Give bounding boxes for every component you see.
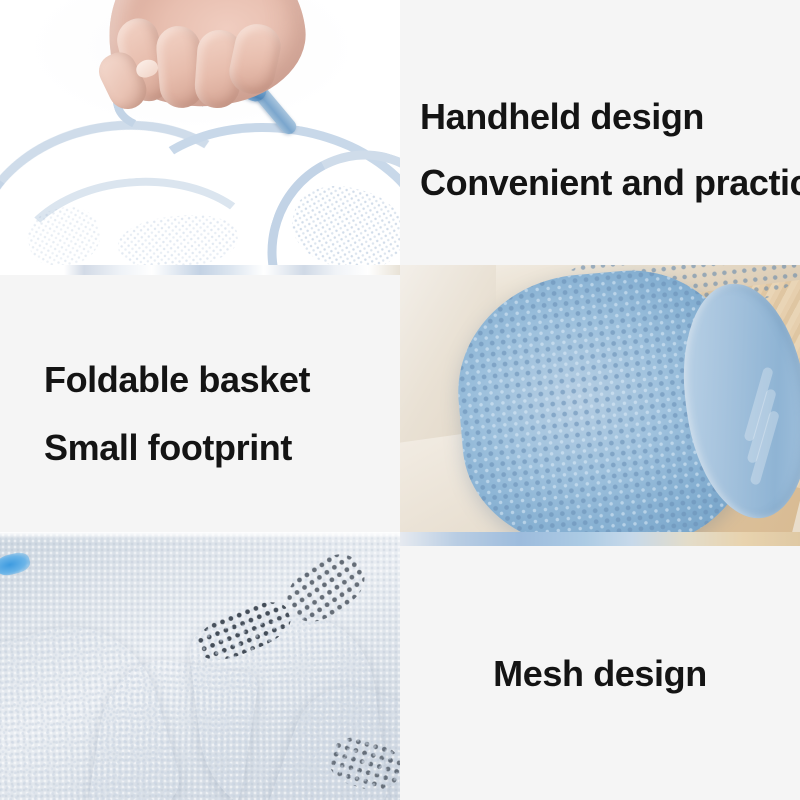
- panel-drawer-photo: [400, 265, 800, 532]
- panel-handheld-text: Handheld design Convenient and practical: [400, 0, 800, 265]
- handheld-headline-line1: Handheld design: [420, 98, 800, 136]
- handheld-headline-line2: Convenient and practical: [420, 164, 800, 202]
- photo-top-fade: [0, 532, 400, 540]
- foldable-headline-line1: Foldable basket: [44, 361, 400, 399]
- product-feature-collage: Handheld design Convenient and practical…: [0, 0, 800, 800]
- photo-sliver-top: [0, 265, 400, 275]
- panel-mesh-text: Mesh design: [400, 532, 800, 800]
- photo-sliver-top: [400, 532, 800, 546]
- panel-foldable-text: Foldable basket Small footprint: [0, 265, 400, 532]
- foldable-headline-line2: Small footprint: [44, 429, 400, 467]
- panel-hand-photo: [0, 0, 400, 265]
- feature-grid: Handheld design Convenient and practical…: [0, 0, 800, 800]
- mesh-headline: Mesh design: [493, 655, 707, 693]
- panel-white-mesh-photo: [0, 532, 400, 800]
